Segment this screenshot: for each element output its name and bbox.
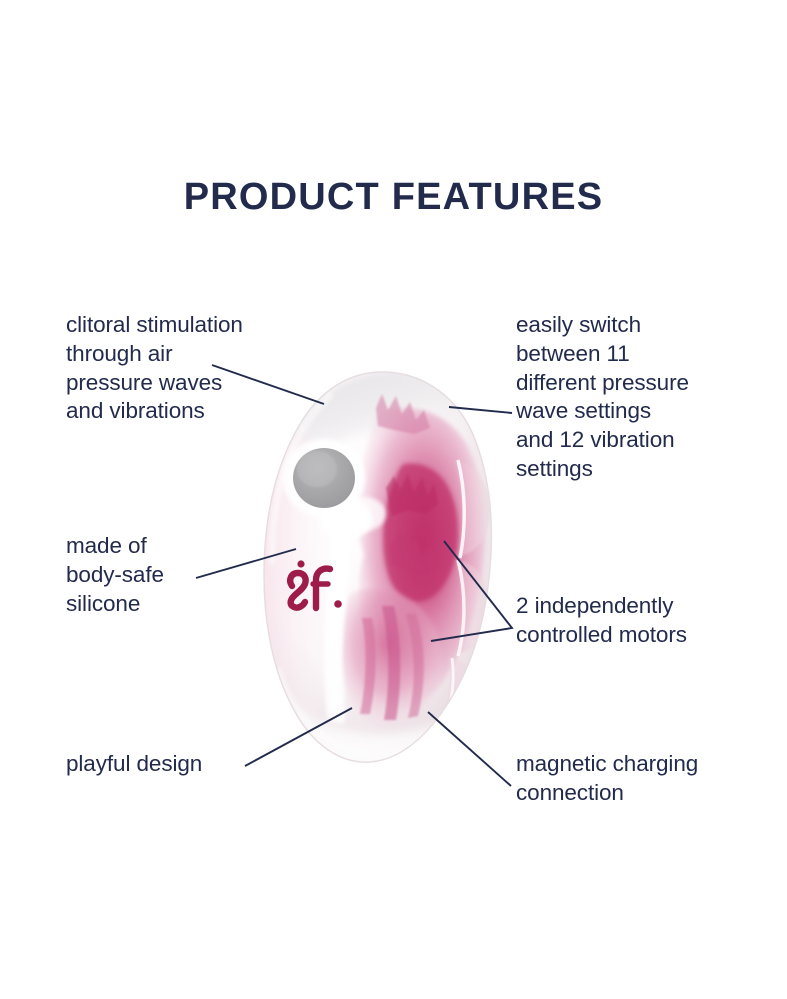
feature-label-motors: 2 independently controlled motors xyxy=(516,592,746,650)
feature-label-air-pressure: clitoral stimulation through air pressur… xyxy=(66,311,316,426)
feature-label-settings: easily switch between 11 different press… xyxy=(516,311,741,484)
feature-label-silicone: made of body-safe silicone xyxy=(66,532,296,618)
feature-label-magnetic-charging: magnetic charging connection xyxy=(516,750,751,808)
feature-label-playful-design: playful design xyxy=(66,750,316,779)
air-pressure-nozzle xyxy=(283,439,365,517)
infographic-page: PRODUCT FEATURES xyxy=(0,0,787,999)
page-title: PRODUCT FEATURES xyxy=(0,178,787,216)
